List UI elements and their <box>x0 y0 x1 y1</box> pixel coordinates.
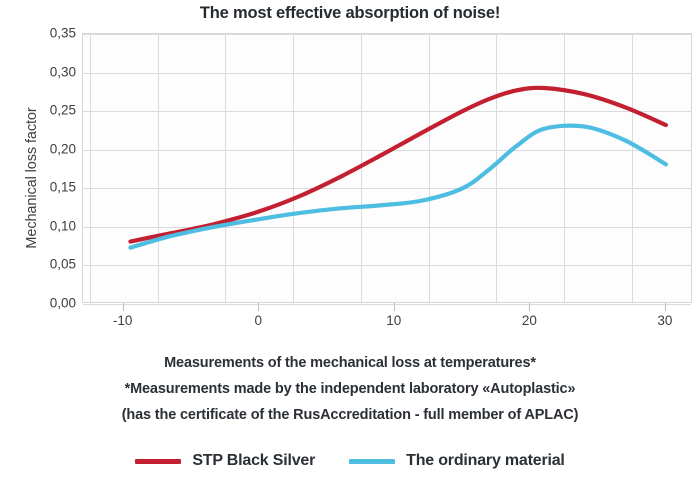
plot-area <box>82 33 692 303</box>
legend-label: STP Black Silver <box>192 452 315 470</box>
x-axis-tick-mark <box>258 303 259 311</box>
x-axis-tick-mark <box>665 303 666 311</box>
legend-swatch-icon <box>135 459 181 464</box>
caption-line-2: *Measurements made by the independent la… <box>0 381 700 397</box>
y-axis-tick-label: 0,15 <box>24 180 76 195</box>
gridline-horizontal <box>83 304 691 305</box>
legend-item[interactable]: The ordinary material <box>349 452 565 470</box>
chart-root: The most effective absorption of noise! … <box>0 0 700 487</box>
x-axis-tick-mark <box>529 303 530 311</box>
x-axis-tick-label: 30 <box>635 313 695 328</box>
x-axis-tick-label: 10 <box>364 313 424 328</box>
x-axis-tick-label: 0 <box>228 313 288 328</box>
chart-title: The most effective absorption of noise! <box>0 4 700 23</box>
y-axis-tick-label: 0,25 <box>24 103 76 118</box>
legend-swatch-icon <box>349 459 395 464</box>
y-axis-tick-label: 0,10 <box>24 218 76 233</box>
y-axis-tick-label: 0,35 <box>24 26 76 41</box>
x-axis-tick-mark <box>123 303 124 311</box>
x-axis-tick-mark <box>394 303 395 311</box>
legend-label: The ordinary material <box>406 452 565 470</box>
caption-line-1: Measurements of the mechanical loss at t… <box>0 355 700 371</box>
y-axis-tick-labels: 0,000,050,100,150,200,250,300,35 <box>22 33 76 303</box>
caption-line-3: (has the certificate of the RusAccredita… <box>0 407 700 423</box>
y-axis-tick-label: 0,05 <box>24 257 76 272</box>
y-axis-tick-label: 0,00 <box>24 296 76 311</box>
series-line-stp-black-silver <box>130 88 665 242</box>
plot-area-wrapper <box>82 33 692 303</box>
x-axis-tick-label: -10 <box>93 313 153 328</box>
x-axis-tick-labels: -100102030 <box>82 313 692 333</box>
legend-item[interactable]: STP Black Silver <box>135 452 315 470</box>
chart-legend: STP Black SilverThe ordinary material <box>0 452 700 470</box>
y-axis-tick-label: 0,30 <box>24 64 76 79</box>
series-lines <box>83 34 693 304</box>
x-axis-tick-label: 20 <box>499 313 559 328</box>
y-axis-tick-label: 0,20 <box>24 141 76 156</box>
